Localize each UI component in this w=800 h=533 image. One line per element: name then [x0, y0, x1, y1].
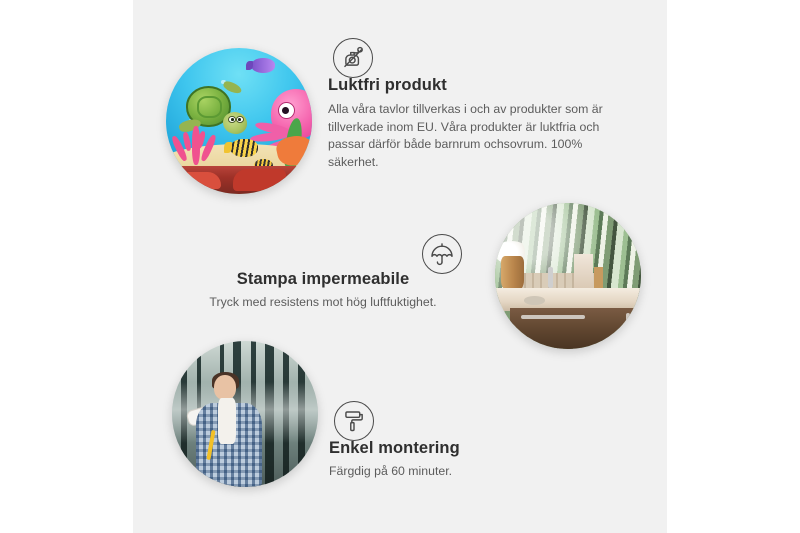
paint-roller-icon — [334, 401, 374, 441]
vanity-cabinet — [510, 308, 641, 349]
faucet — [548, 267, 554, 287]
umbrella-icon — [422, 234, 462, 274]
woman-with-roller — [192, 373, 277, 487]
feature-body: Färgdig på 60 minuter. — [329, 463, 589, 480]
soap-dispenser — [574, 254, 593, 289]
vase — [501, 256, 524, 291]
feature-title: Luktfri produkt — [328, 75, 628, 95]
product-photo-forest — [172, 341, 318, 487]
product-photo-sea — [166, 48, 312, 194]
feature-easy-mounting: Enkel montering Färgdig på 60 minuter. — [329, 438, 589, 480]
fish-yellow — [230, 139, 258, 158]
product-photo-bathroom — [495, 203, 641, 349]
feature-body: Alla våra tavlor tillverkas i och av pro… — [328, 101, 628, 171]
fish-purple — [251, 58, 276, 73]
feature-title: Enkel montering — [329, 438, 589, 458]
coral — [172, 118, 222, 165]
feature-body: Tryck med resistens mot hög luftfuktighe… — [182, 294, 464, 311]
feature-odourless: Luktfri produkt Alla våra tavlor tillver… — [328, 75, 628, 171]
no-odour-perfume-icon — [333, 38, 373, 78]
feature-title: Stampa impermeabile — [182, 269, 464, 289]
soap-dish — [524, 296, 544, 305]
overlay-photo-strip — [166, 166, 312, 194]
feature-waterproof: Stampa impermeabile Tryck med resistens … — [182, 269, 464, 311]
product-feature-banner: Luktfri produkt Alla våra tavlor tillver… — [0, 0, 800, 533]
